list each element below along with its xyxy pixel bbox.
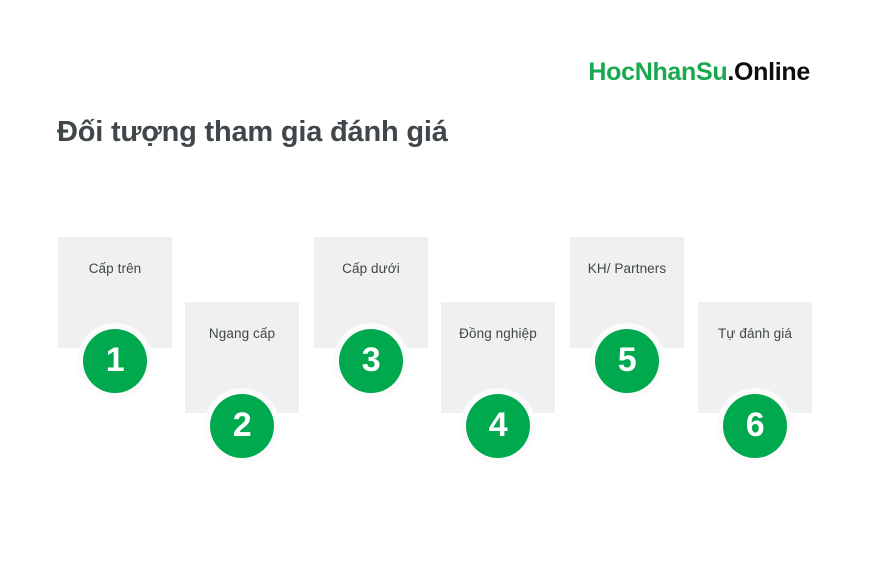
step-item: Ngang cấp2	[185, 302, 299, 413]
step-item: Cấp trên1	[58, 237, 172, 348]
step-badge: 3	[333, 323, 409, 399]
step-badge: 4	[460, 388, 536, 464]
step-badge-circle: 4	[466, 394, 530, 458]
slide-canvas: HocNhanSu.Online Đối tượng tham gia đánh…	[0, 0, 870, 580]
step-badge-circle: 6	[723, 394, 787, 458]
step-badge-circle: 5	[595, 329, 659, 393]
step-number: 3	[362, 343, 380, 377]
step-label: Tự đánh giá	[698, 302, 812, 342]
step-badge-circle: 1	[83, 329, 147, 393]
step-label: Đồng nghiệp	[441, 302, 555, 342]
step-item: Tự đánh giá6	[698, 302, 812, 413]
step-item: KH/ Partners5	[570, 237, 684, 348]
step-item: Đồng nghiệp4	[441, 302, 555, 413]
step-item: Cấp dưới3	[314, 237, 428, 348]
step-number: 4	[489, 408, 507, 442]
step-number: 6	[746, 408, 764, 442]
step-badge: 2	[204, 388, 280, 464]
step-number: 2	[233, 408, 251, 442]
step-number: 5	[618, 343, 636, 377]
step-label: Ngang cấp	[185, 302, 299, 342]
step-badge: 6	[717, 388, 793, 464]
step-label: Cấp trên	[58, 237, 172, 277]
step-badge: 1	[77, 323, 153, 399]
step-number: 1	[106, 343, 124, 377]
step-badge-circle: 3	[339, 329, 403, 393]
step-badge: 5	[589, 323, 665, 399]
step-label: Cấp dưới	[314, 237, 428, 277]
steps-container: Cấp trên1Ngang cấp2Cấp dưới3Đồng nghiệp4…	[0, 0, 870, 580]
step-label: KH/ Partners	[570, 237, 684, 277]
step-badge-circle: 2	[210, 394, 274, 458]
